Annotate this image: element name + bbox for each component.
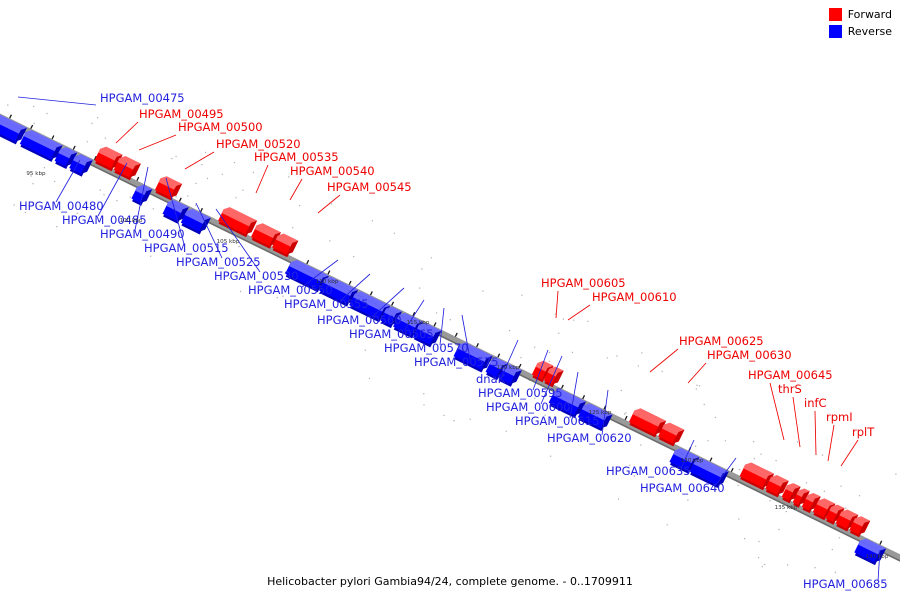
gene-label[interactable]: HPGAM_00490 (100, 227, 185, 241)
gene-label[interactable]: HPGAM_00595 (478, 386, 563, 400)
gene-label[interactable]: HPGAM_00645 (748, 368, 833, 382)
gene-label[interactable]: HPGAM_00480 (19, 199, 104, 213)
gene-label[interactable]: HPGAM_00565 (349, 327, 434, 341)
axis-tick-label: 100 kbp (120, 218, 143, 224)
gene-label[interactable]: HPGAM_00615 (515, 414, 600, 428)
gene-label[interactable]: HPGAM_00535 (254, 150, 339, 164)
gene-label[interactable]: HPGAM_00635 (606, 464, 691, 478)
gene-label[interactable]: HPGAM_00495 (139, 107, 224, 121)
leader-line (556, 291, 558, 318)
gene-label[interactable]: HPGAM_00525 (176, 255, 261, 269)
axis-tick-label: 95 kbp (26, 171, 46, 177)
leader-line (139, 135, 176, 150)
genome-map-canvas: HPGAM_00475HPGAM_00480HPGAM_00485HPGAM_0… (0, 0, 900, 600)
gene-label[interactable]: HPGAM_00625 (679, 334, 764, 348)
gene-label[interactable]: HPGAM_00605 (541, 276, 626, 290)
gene-label[interactable]: HPGAM_00520 (216, 137, 301, 151)
gene-label[interactable]: HPGAM_00630 (707, 348, 792, 362)
gene-label[interactable]: infC (804, 396, 827, 410)
legend-item-forward: Forward (829, 8, 892, 21)
red-square-swatch (829, 8, 842, 21)
leader-line (650, 349, 678, 372)
axis-tick-label: 125 kbp (589, 410, 612, 416)
axis-tick-label: 120 kbp (497, 365, 520, 371)
leader-line (793, 397, 800, 447)
axis-tick-label: 105 kbp (217, 239, 240, 245)
axis-tick-label: 110 kbp (316, 279, 339, 285)
legend-item-reverse: Reverse (829, 25, 892, 38)
legend-label-reverse: Reverse (848, 25, 892, 38)
gene-label[interactable]: HPGAM_00640 (640, 481, 725, 495)
gene-labels: HPGAM_00475HPGAM_00480HPGAM_00485HPGAM_0… (19, 91, 888, 591)
leader-line (688, 363, 706, 383)
gene-label[interactable]: HPGAM_00555 (284, 297, 369, 311)
leader-line (290, 179, 302, 200)
leader-line (568, 305, 590, 320)
genome-diagram: HPGAM_00475HPGAM_00480HPGAM_00485HPGAM_0… (0, 0, 900, 600)
gene-label[interactable]: thrS (778, 382, 802, 396)
axis-tick-label: 140 kbp (866, 554, 889, 560)
gene-label[interactable]: HPGAM_00500 (178, 120, 263, 134)
gene-label[interactable]: HPGAM_00545 (327, 180, 412, 194)
leader-line (440, 308, 444, 345)
gene-label[interactable]: HPGAM_00560 (317, 313, 402, 327)
gene-label[interactable]: rpmI (826, 410, 853, 424)
gene-label[interactable]: HPGAM_00570 (384, 341, 469, 355)
axis-tick-label: 115 kbp (407, 320, 430, 326)
gene-label[interactable]: HPGAM_00530 (214, 269, 299, 283)
leader-line (256, 165, 268, 193)
gene-label[interactable]: HPGAM_00475 (100, 91, 185, 105)
leader-line (18, 97, 96, 105)
gene-label[interactable]: HPGAM_00610 (592, 290, 677, 304)
leader-line (185, 152, 214, 169)
leader-line (841, 440, 858, 466)
gene-label[interactable]: HPGAM_00575 (414, 355, 499, 369)
leader-line (815, 411, 816, 455)
gene-label[interactable]: HPGAM_00600 (486, 400, 571, 414)
legend-label-forward: Forward (848, 8, 892, 21)
gene-label[interactable]: dnaK (476, 372, 506, 386)
gene-label[interactable]: rplT (852, 425, 875, 439)
blue-square-swatch (829, 25, 842, 38)
genome-backbone (0, 112, 900, 563)
leader-line (318, 195, 340, 213)
legend: Forward Reverse (829, 8, 892, 38)
axis-tick-label: 130 kbp (681, 458, 704, 464)
axis-tick-label: 135 kbp (775, 505, 798, 511)
gene-label[interactable]: HPGAM_00540 (290, 164, 375, 178)
leader-line (56, 160, 80, 202)
figure-caption: Helicobacter pylori Gambia94/24, complet… (0, 575, 900, 588)
leader-line (116, 122, 138, 143)
gene-label[interactable]: HPGAM_00620 (547, 431, 632, 445)
leader-line (828, 425, 834, 461)
gene-label[interactable]: HPGAM_00550 (248, 283, 333, 297)
